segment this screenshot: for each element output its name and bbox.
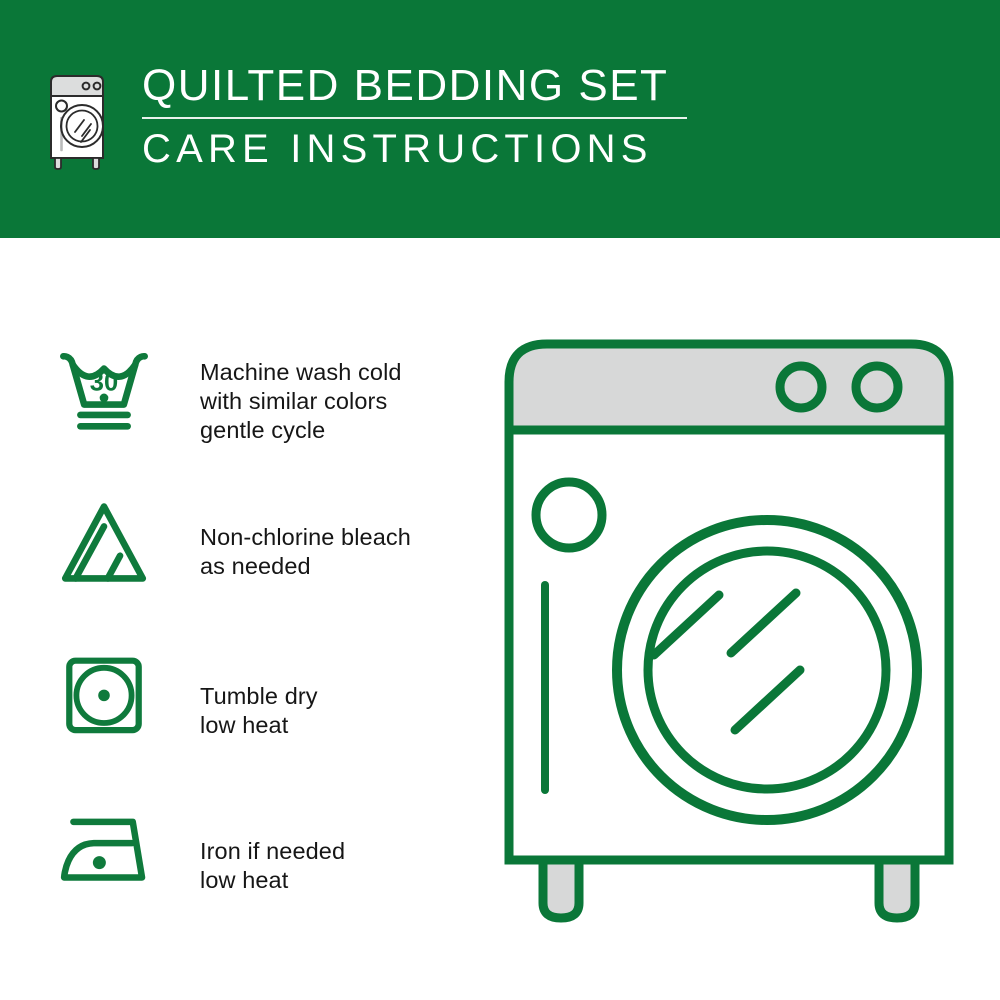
- page-title: QUILTED BEDDING SET: [142, 62, 687, 110]
- control-panel: [509, 344, 949, 430]
- list-item: 30 Machine wash cold with similar colors…: [46, 336, 476, 491]
- list-item-text: Non-chlorine bleach as needed: [200, 491, 411, 581]
- list-item: Tumble dry low heat: [46, 646, 476, 801]
- header-banner: QUILTED BEDDING SET CARE INSTRUCTIONS: [0, 0, 1000, 238]
- header-titles: QUILTED BEDDING SET CARE INSTRUCTIONS: [142, 62, 687, 171]
- wash-temperature-label: 30: [90, 368, 118, 396]
- front-load-washing-machine-illustration: [495, 330, 975, 930]
- list-item-text: Tumble dry low heat: [200, 646, 318, 740]
- instruction-list: 30 Machine wash cold with similar colors…: [46, 336, 476, 956]
- leg-right: [879, 860, 915, 918]
- header-content: QUILTED BEDDING SET CARE INSTRUCTIONS: [42, 62, 687, 171]
- list-item: Non-chlorine bleach as needed: [46, 491, 476, 646]
- non-chlorine-bleach-triangle-icon: [46, 491, 162, 590]
- iron-low-heat-icon: [46, 801, 162, 898]
- washing-machine-icon: [42, 66, 120, 170]
- tumble-dry-low-heat-icon: [46, 646, 162, 739]
- list-item-text: Machine wash cold with similar colors ge…: [200, 336, 402, 445]
- list-item-text: Iron if needed low heat: [200, 801, 345, 895]
- care-instructions-infographic: QUILTED BEDDING SET CARE INSTRUCTIONS 30: [0, 0, 1000, 1000]
- leg-left: [543, 860, 579, 918]
- wash-tub-30-gentle-icon: 30: [46, 336, 162, 435]
- title-divider: [142, 117, 687, 119]
- list-item: Iron if needed low heat: [46, 801, 476, 956]
- page-subtitle: CARE INSTRUCTIONS: [142, 127, 687, 171]
